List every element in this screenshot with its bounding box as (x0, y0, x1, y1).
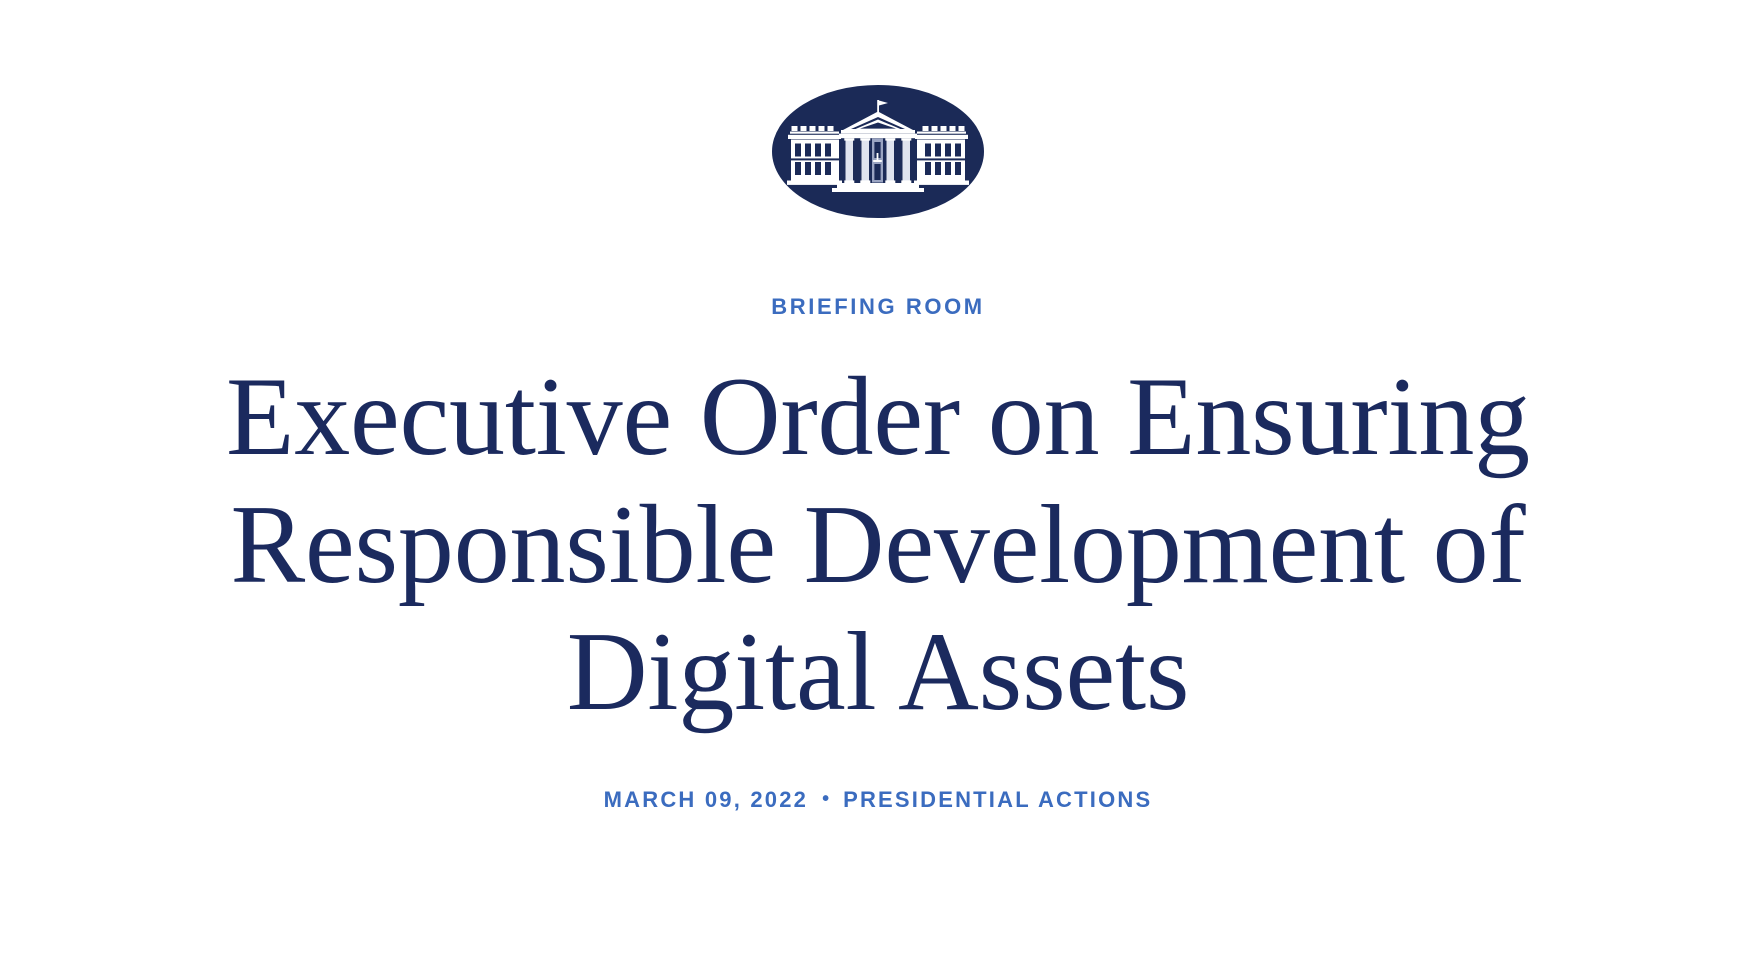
page-title: Executive Order on Ensuring Responsible … (98, 354, 1658, 737)
briefing-room-eyebrow[interactable]: BRIEFING ROOM (771, 296, 984, 318)
bullet-separator-icon: • (808, 789, 843, 809)
white-house-seal-icon (772, 85, 984, 218)
white-house-seal-logo[interactable] (772, 85, 984, 218)
article-header-page: BRIEFING ROOM Executive Order on Ensurin… (0, 0, 1756, 968)
page-title-line-1: Executive Order on Ensuring (98, 354, 1658, 482)
article-meta: MARCH 09, 2022 • PRESIDENTIAL ACTIONS (604, 789, 1153, 811)
page-title-line-2: Responsible Development of (98, 482, 1658, 610)
publish-date: MARCH 09, 2022 (604, 789, 808, 811)
category-link-presidential-actions[interactable]: PRESIDENTIAL ACTIONS (843, 789, 1152, 811)
page-title-line-3: Digital Assets (98, 609, 1658, 737)
